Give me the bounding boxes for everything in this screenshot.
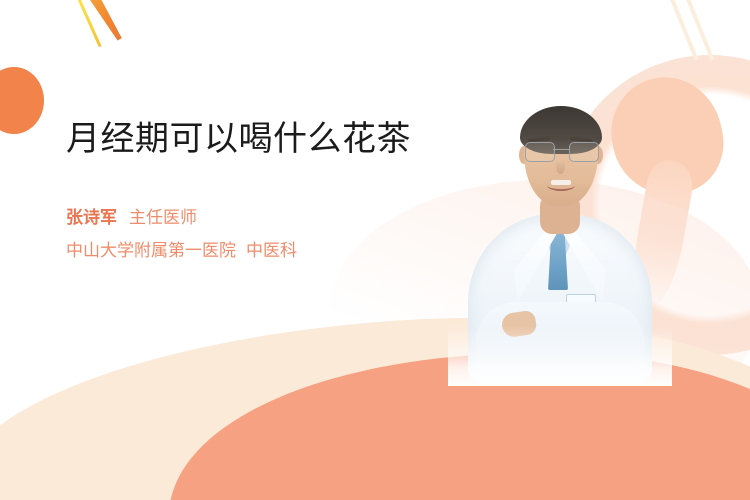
article-title: 月经期可以喝什么花茶 <box>66 118 416 161</box>
orange-stripe-icon <box>86 0 122 43</box>
portrait-bottom-fade <box>448 326 672 386</box>
mouth <box>547 180 575 191</box>
doctor-title: 主任医师 <box>129 208 197 227</box>
text-block: 月经期可以喝什么花茶 张诗军主任医师 中山大学附属第一医院中医科 <box>66 118 416 265</box>
hospital-name: 中山大学附属第一医院 <box>66 241 236 260</box>
glasses-bridge <box>553 149 569 150</box>
doctor-portrait <box>462 88 658 378</box>
glasses-icon <box>522 142 600 162</box>
cream-stripe-icon-c <box>153 362 175 398</box>
orange-circle-shape <box>0 67 44 134</box>
health-article-cover-card: 月经期可以喝什么花茶 张诗军主任医师 中山大学附属第一医院中医科 <box>0 0 750 500</box>
doctor-byline: 张诗军主任医师 <box>66 205 416 231</box>
glasses-lens-left <box>525 142 555 162</box>
cream-stripe-icon-b <box>683 0 714 61</box>
doctor-affiliation: 中山大学附属第一医院中医科 <box>66 238 416 264</box>
doctor-name: 张诗军 <box>66 208 117 227</box>
department-name: 中医科 <box>246 241 297 260</box>
yellow-stripe-icon <box>76 0 102 47</box>
cream-stripe-icon-d <box>429 378 442 407</box>
nose <box>556 160 565 174</box>
glasses-lens-right <box>569 142 599 162</box>
cream-stripe-icon-a <box>667 0 698 61</box>
